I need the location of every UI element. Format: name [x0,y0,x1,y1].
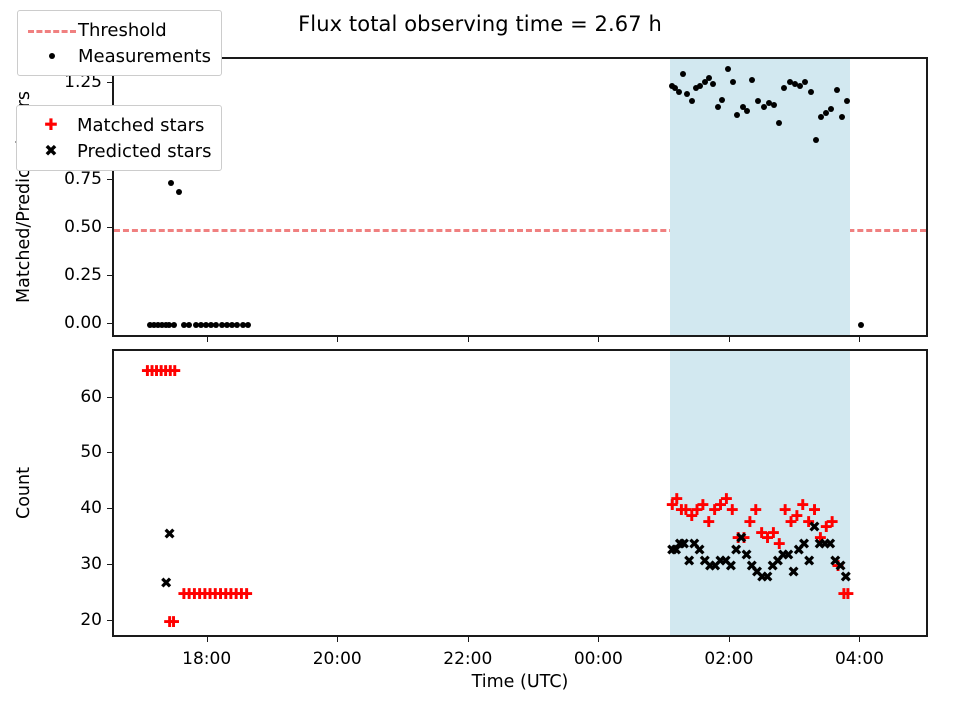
data-point [761,104,767,110]
data-point [858,322,864,328]
bottom-panel-legend: ✚ Matched stars ✖ Predicted stars [16,105,222,171]
y-axis-tick-label: 0.25 [64,265,102,285]
x-axis-tick [207,637,208,642]
bottom-panel-axes: ✚✚✚✚✚✚✚✚✚✚✚✚✚✚✚✚✚✚✚✚✚✚✚✚✚✚✚✚✚✚✚✚✚✚✚✚✚✚✚✚… [112,349,928,637]
y-axis-tick-label: 30 [80,554,102,574]
y-axis-tick-label: 50 [80,442,102,462]
x-axis-tick-label: 18:00 [182,649,231,669]
dashed-line-icon [26,19,78,41]
x-axis-tick [468,337,469,342]
y-axis-tick [107,397,112,398]
figure-canvas: Flux total observing time = 2.67 h 0.000… [0,0,960,720]
y-axis-tick [107,275,112,276]
y-axis-tick [107,82,112,83]
x-axis-tick-label: 00:00 [574,649,623,669]
data-point [834,87,840,93]
y-axis-tick-label: 20 [80,610,102,630]
y-axis-tick [107,508,112,509]
x-axis-tick [337,637,338,642]
y-axis-tick [107,323,112,324]
x-axis-tick-label: 20:00 [313,649,362,669]
legend-item-predicted-stars: ✖ Predicted stars [25,138,211,164]
x-axis-tick-label: 04:00 [835,649,884,669]
data-point [776,120,782,126]
data-point [186,322,192,328]
data-point [813,137,819,143]
legend-item-threshold: Threshold [26,17,211,43]
legend-item-measurements: Measurements [26,43,211,69]
x-axis-tick-label: 22:00 [443,649,492,669]
x-axis-tick [729,337,730,342]
data-point [730,79,736,85]
data-point [171,322,177,328]
bottom-panel-plot-area: ✚✚✚✚✚✚✚✚✚✚✚✚✚✚✚✚✚✚✚✚✚✚✚✚✚✚✚✚✚✚✚✚✚✚✚✚✚✚✚✚… [114,351,926,635]
data-point [176,189,182,195]
top-panel-plot-area [114,59,926,335]
y-axis-tick [107,620,112,621]
x-axis-tick [337,337,338,342]
data-point [245,322,251,328]
y-axis-tick-label: 60 [80,387,102,407]
x-axis-tick [859,337,860,342]
y-axis-tick [107,452,112,453]
x-axis-tick [207,337,208,342]
shaded-region-observing-window [670,351,850,635]
legend-label-matched-stars: Matched stars [77,115,204,136]
dot-marker-icon [26,45,78,67]
y-axis-tick-label: 0.00 [64,313,102,333]
x-axis-tick-label: 02:00 [704,649,753,669]
top-panel-legend: Threshold Measurements [17,10,222,76]
legend-item-matched-stars: ✚ Matched stars [25,112,211,138]
x-axis-tick [468,637,469,642]
y-axis-tick [107,179,112,180]
y-axis-tick-label: 40 [80,498,102,518]
data-point [676,89,682,95]
top-panel-axes [112,57,928,337]
legend-label-threshold: Threshold [78,20,167,41]
data-point [725,66,731,72]
y-axis-tick-label: 0.50 [64,217,102,237]
legend-label-predicted-stars: Predicted stars [77,141,211,162]
x-axis-tick [859,637,860,642]
legend-label-measurements: Measurements [78,46,211,67]
data-point [168,180,174,186]
data-point [719,97,725,103]
y-axis-tick-label: 0.75 [64,169,102,189]
x-axis-tick [598,337,599,342]
data-point [808,89,814,95]
y-axis-tick [107,564,112,565]
data-point [684,91,690,97]
plus-marker-icon: ✚ [25,114,77,136]
cross-marker-icon: ✖ [25,140,77,162]
data-point [839,114,845,120]
bottom-panel-y-axis-label: Count [14,467,34,519]
y-axis-tick [107,227,112,228]
x-axis-tick [729,637,730,642]
x-axis-tick [598,637,599,642]
x-axis-label: Time (UTC) [472,672,569,692]
